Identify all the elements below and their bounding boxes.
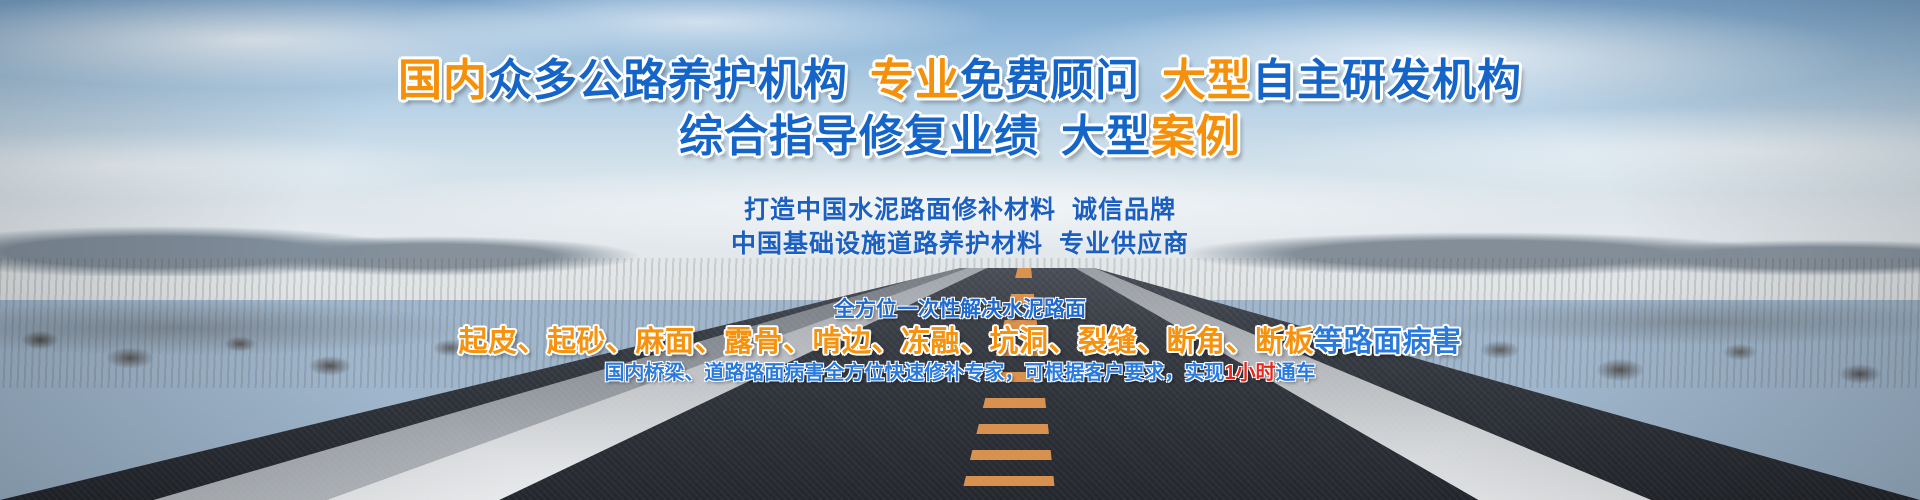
bottom-line-3: 国内桥梁、道路路面病害全方位快速修补专家，可根据客户要求，实现1小时通车 [0,356,1920,385]
headline-seg-domestic: 国内 [398,56,488,105]
headline-seg-agencies: 众多公路养护机构 [488,56,848,105]
headline-seg-professional: 专业 [870,56,960,105]
headline-line-2: 综合指导修复业绩大型案例 [0,100,1920,164]
subtitle-line-1: 打造中国水泥路面修补材料诚信品牌 [0,190,1920,226]
promo-banner: 国内众多公路养护机构专业免费顾问大型自主研发机构 综合指导修复业绩大型案例 打造… [0,0,1920,500]
damage-types-list: 起皮、起砂、麻面、露骨、啃边、冻融、坑洞、裂缝、断角、断板 [458,326,1314,358]
subtitle-line-2: 中国基础设施道路养护材料专业供应商 [0,224,1920,260]
bottom-line-2: 起皮、起砂、麻面、露骨、啃边、冻融、坑洞、裂缝、断角、断板等路面病害 [0,318,1920,360]
subtitle-2-supplier: 专业供应商 [1059,230,1189,258]
bottom-3-prefix: 国内桥梁、道路路面病害全方位快速修补专家，可根据客户要求，实现 [604,362,1224,384]
subtitle-2-main: 中国基础设施道路养护材料 [731,230,1043,258]
headline-seg-guidance: 综合指导修复业绩 [679,112,1039,161]
headline-seg-cases: 案例 [1151,112,1241,161]
headline-line-1: 国内众多公路养护机构专业免费顾问大型自主研发机构 [0,44,1920,108]
banner-text-layer: 国内众多公路养护机构专业免费顾问大型自主研发机构 综合指导修复业绩大型案例 打造… [0,0,1920,500]
damage-types-suffix: 等路面病害 [1314,326,1462,358]
bottom-3-suffix: 通车 [1276,362,1316,384]
headline-seg-large-scale: 大型 [1162,56,1252,105]
subtitle-1-brand: 诚信品牌 [1072,196,1176,224]
headline-seg-rnd-institute: 自主研发机构 [1252,56,1522,105]
subtitle-1-main: 打造中国水泥路面修补材料 [744,196,1056,224]
headline-seg-large: 大型 [1061,112,1151,161]
headline-seg-free-consult: 免费顾问 [960,56,1140,105]
one-hour-highlight: 1小时 [1224,362,1275,384]
